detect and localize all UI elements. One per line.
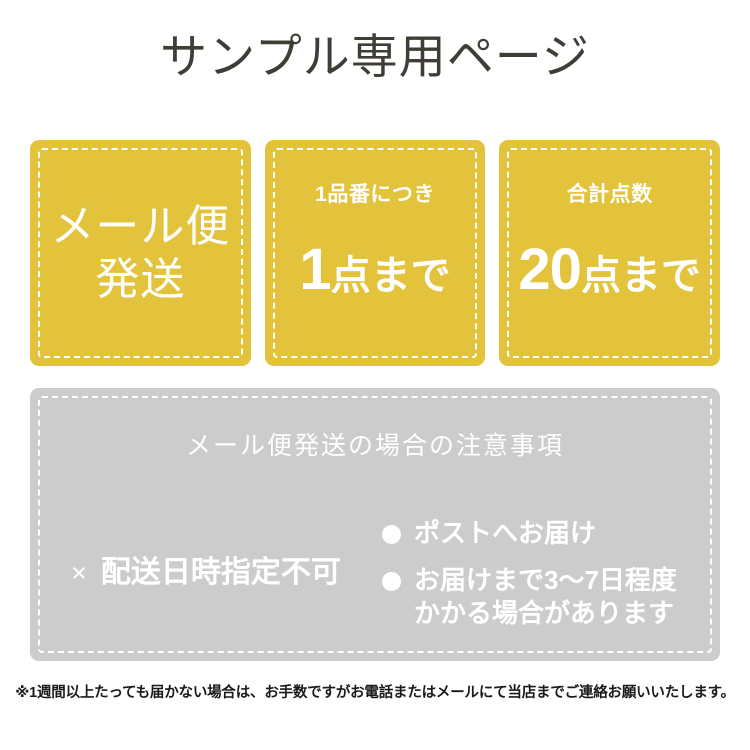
delivery-date-restriction-text: 配送日時指定不可 bbox=[101, 554, 341, 592]
bullet-1-line-1: ポストへお届け bbox=[414, 517, 596, 550]
notice-heading: メール便発送の場合の注意事項 bbox=[30, 430, 720, 462]
footer-note: ※1週間以上たっても届かない場合は、お手数ですがお電話またはメールにて当店までご… bbox=[0, 682, 750, 704]
bullet-text: お届けまで3〜7日程度 かかる場合があります bbox=[414, 564, 677, 630]
per-item-limit-number: 1 bbox=[299, 240, 330, 300]
bullet-2-line-1: お届けまで3〜7日程度 bbox=[414, 564, 677, 597]
notice-bullet-list: ポストへお届け お届けまで3〜7日程度 かかる場合があります bbox=[382, 517, 720, 630]
list-item: お届けまで3〜7日程度 かかる場合があります bbox=[382, 564, 720, 630]
bullet-dot-icon bbox=[382, 572, 401, 591]
per-item-limit-unit: 点まで bbox=[331, 246, 451, 306]
bullet-2-line-2: かかる場合があります bbox=[414, 597, 677, 630]
notice-body: × 配送日時指定不可 ポストへお届け お届けまで3〜7日程度 かかる場合がありま… bbox=[30, 508, 720, 638]
per-item-limit-caption: 1品番につき bbox=[315, 182, 435, 208]
bullet-dot-icon bbox=[382, 525, 401, 544]
per-item-limit-value: 1 点まで bbox=[299, 240, 450, 306]
feature-box-per-item-limit: 1品番につき 1 点まで bbox=[265, 140, 486, 366]
total-limit-value: 20 点まで bbox=[518, 240, 701, 306]
cross-icon: × bbox=[71, 554, 87, 592]
feature-box-row: メール便 発送 1品番につき 1 点まで 合計点数 20 点まで bbox=[30, 140, 720, 366]
total-limit-number: 20 bbox=[518, 240, 581, 300]
delivery-date-restriction: × 配送日時指定不可 bbox=[30, 554, 382, 592]
feature-box-shipping-method: メール便 発送 bbox=[30, 140, 251, 366]
list-item: ポストへお届け bbox=[382, 517, 720, 550]
feature-box-total-limit: 合計点数 20 点まで bbox=[499, 140, 720, 366]
shipping-method-line-2: 発送 bbox=[95, 253, 185, 306]
page-title: サンプル専用ページ bbox=[0, 28, 750, 86]
total-limit-caption: 合計点数 bbox=[567, 182, 653, 208]
sample-shipping-info-page: サンプル専用ページ メール便 発送 1品番につき 1 点まで 合計点数 bbox=[0, 0, 750, 750]
bullet-text: ポストへお届け bbox=[414, 517, 596, 550]
notice-panel: メール便発送の場合の注意事項 × 配送日時指定不可 ポストへお届け お届けまで3… bbox=[30, 388, 720, 661]
shipping-method-line-1: メール便 bbox=[50, 200, 230, 253]
total-limit-unit: 点まで bbox=[581, 246, 701, 306]
